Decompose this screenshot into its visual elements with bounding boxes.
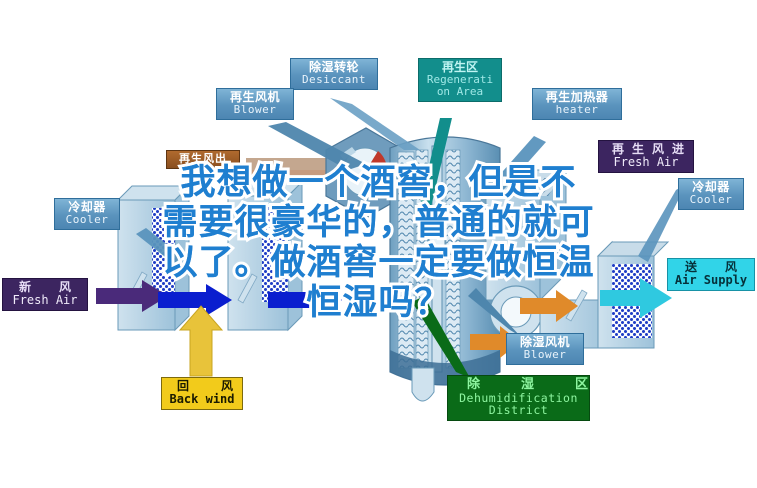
- label-dehum-district: 除 湿 区 Dehumidification District: [447, 375, 590, 421]
- label-regen-heater-cn: 再生加热器: [538, 91, 616, 104]
- label-back-wind: 回 风 Back wind: [161, 377, 243, 410]
- label-regen-heater-en: heater: [538, 104, 616, 116]
- label-regeneration-area: 再生区 Regenerati on Area: [418, 58, 502, 102]
- label-regeneration-area-cn: 再生区: [424, 61, 496, 74]
- label-regen-heater: 再生加热器 heater: [532, 88, 622, 120]
- label-dehum-blower: 除湿风机 Blower: [506, 333, 584, 365]
- caption-line-3: 以了。做酒窖一定要做恒温: [0, 243, 757, 283]
- label-back-wind-en: Back wind: [167, 393, 237, 406]
- label-desiccant-rotor-cn: 除湿转轮: [296, 61, 372, 74]
- label-dehum-district-cn: 除 湿 区: [453, 378, 584, 392]
- label-dehum-blower-en: Blower: [512, 349, 578, 361]
- label-dehum-district-en-2: District: [453, 404, 584, 416]
- caption-line-1: 我想做一个酒窖，但是不: [0, 163, 757, 203]
- label-desiccant-rotor-en: Desiccant: [296, 74, 372, 86]
- label-dehum-blower-cn: 除湿风机: [512, 336, 578, 349]
- label-regen-air-in-cn: 再生风进: [604, 143, 688, 156]
- label-desiccant-rotor: 除湿转轮 Desiccant: [290, 58, 378, 90]
- overlay-caption-outline: 我想做一个酒窖，但是不 需要很豪华的，普通的就可 以了。做酒窖一定要做恒温 恒湿…: [0, 163, 757, 323]
- label-regen-blower: 再生风机 Blower: [216, 88, 294, 120]
- label-back-wind-cn: 回 风: [167, 380, 237, 393]
- label-regen-blower-cn: 再生风机: [222, 91, 288, 104]
- caption-line-4: 恒湿吗？: [0, 283, 757, 323]
- label-regen-blower-en: Blower: [222, 104, 288, 116]
- label-regeneration-area-en-2: on Area: [424, 86, 496, 98]
- caption-line-2: 需要很豪华的，普通的就可: [0, 203, 757, 243]
- dehumidifier-diagram-image: 除湿转轮 Desiccant 再生风机 Blower 再生区 Regenerat…: [0, 0, 757, 488]
